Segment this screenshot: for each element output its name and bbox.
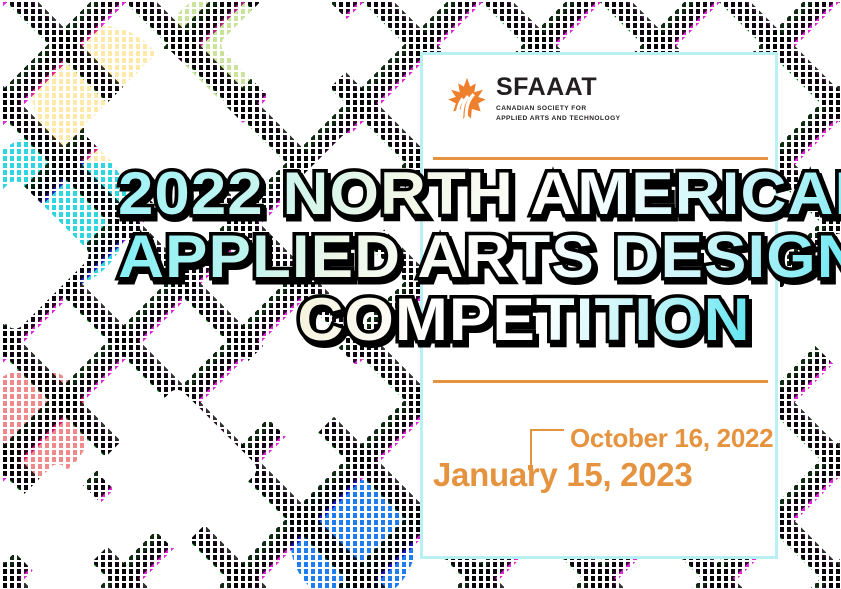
content-card: SFAAAT CANADIAN SOCIETY FOR APPLIED ARTS… xyxy=(420,52,778,559)
logo-subtitle-line-2: APPLIED ARTS AND TECHNOLOGY xyxy=(496,114,621,124)
void-diamond xyxy=(769,229,841,370)
date-end: January 15, 2023 xyxy=(433,456,692,494)
void-diamond xyxy=(80,45,250,215)
void-diamond xyxy=(217,0,373,123)
divider-rule-top xyxy=(433,157,768,160)
logo-wordmark: SFAAAT xyxy=(496,75,621,100)
void-diamond xyxy=(229,309,370,450)
date-start: October 16, 2022 xyxy=(570,423,773,454)
logo-text-block: SFAAAT CANADIAN SOCIETY FOR APPLIED ARTS… xyxy=(496,75,621,123)
divider-rule-bottom xyxy=(433,380,768,383)
void-diamond xyxy=(0,177,93,333)
poster-canvas: SFAAAT CANADIAN SOCIETY FOR APPLIED ARTS… xyxy=(0,0,841,589)
maple-leaf-icon xyxy=(447,77,487,121)
logo-subtitle: CANADIAN SOCIETY FOR APPLIED ARTS AND TE… xyxy=(496,104,621,123)
logo-subtitle-line-1: CANADIAN SOCIETY FOR xyxy=(496,104,621,114)
date-range-block: October 16, 2022 January 15, 2023 xyxy=(439,423,769,518)
void-diamond xyxy=(280,130,416,266)
content-card-inner: SFAAAT CANADIAN SOCIETY FOR APPLIED ARTS… xyxy=(423,55,775,556)
sfaaat-logo: SFAAAT CANADIAN SOCIETY FOR APPLIED ARTS… xyxy=(447,75,621,123)
